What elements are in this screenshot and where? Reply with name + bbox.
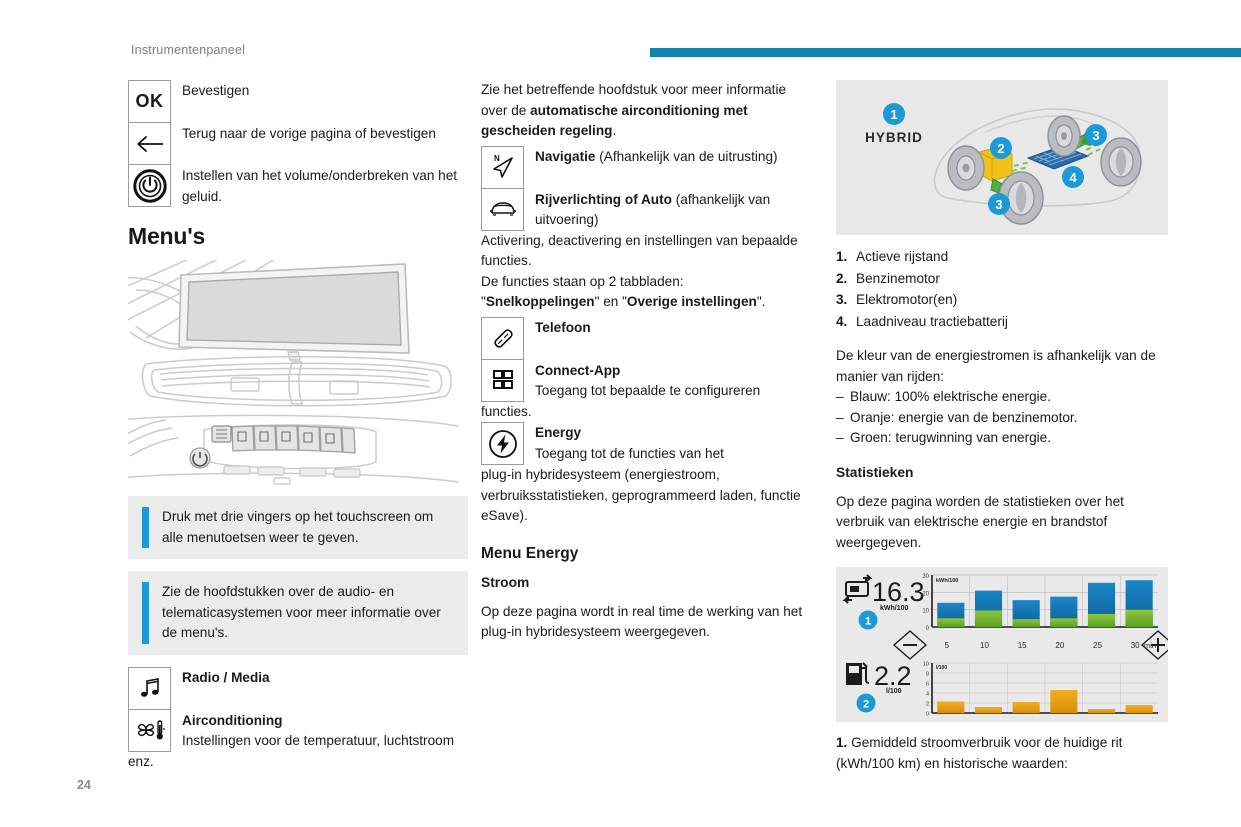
after-items-text-2: De functies staan op 2 tabbladen: (481, 272, 811, 293)
info-note-2: Zie de hoofdstukken over de audio- en te… (128, 571, 468, 655)
menu-row-telefoon-text: Telefoon (524, 317, 591, 360)
left-column: OK Bevestigen Terug naar de vorige pagin… (128, 80, 468, 772)
svg-text:10: 10 (923, 662, 929, 668)
dashboard-illustration (128, 260, 468, 488)
tab-name-2: Overige instellingen (627, 294, 757, 309)
control-row-back: Terug naar de vorige pagina of bevestige… (128, 123, 468, 165)
intro-paragraph: Zie het betreffende hoofdstuk voor meer … (481, 80, 811, 142)
statistics-screen-figure: 16.3 kWh/100 1 2.2 l/100 2 0102030kWh/10… (836, 567, 1168, 722)
menu-items-overflow: enz. (128, 752, 468, 773)
menu-body-connect-app: Toegang tot bepaalde te configureren (535, 383, 760, 398)
svg-text:6: 6 (926, 682, 929, 688)
menu-title-connect-app: Connect-App (535, 363, 620, 378)
svg-text:kWh/100: kWh/100 (936, 578, 958, 584)
energy-overflow: plug-in hybridesysteem (energiestroom, v… (481, 465, 811, 527)
statistieken-body: Op deze pagina worden de statistieken ov… (836, 492, 1168, 554)
list-item: –Blauw: 100% elektrische energie. (836, 387, 1168, 408)
svg-text:0: 0 (926, 712, 929, 718)
svg-text:10: 10 (922, 609, 929, 615)
page-number: 24 (77, 778, 91, 792)
info-icon (142, 507, 149, 548)
svg-text:1: 1 (865, 616, 871, 628)
menu-suffix-navigatie: (Afhankelijk van de uitrusting) (595, 149, 777, 164)
svg-text:2: 2 (863, 699, 869, 711)
menu-row-radio-media: Radio / Media (128, 667, 468, 710)
legend-label-4: Laadniveau tractiebatterij (856, 312, 1008, 333)
intro-text-2: . (612, 123, 616, 138)
air-conditioning-icon (128, 709, 171, 752)
middle-icon-list-a: N Navigatie (Afhankelijk van de uitrusti… (481, 146, 811, 231)
app-grid-icon (481, 359, 524, 402)
svg-text:1: 1 (890, 107, 897, 122)
menu-row-airconditioning: Airconditioning Instellingen voor de tem… (128, 710, 468, 752)
header-accent-rule (650, 48, 1241, 57)
svg-text:HYBRID: HYBRID (865, 130, 923, 145)
caption-text: Gemiddeld stroomverbruik voor de huidige… (836, 735, 1122, 771)
list-item: 1.Actieve rijstand (836, 247, 1168, 268)
car-front-lights-icon (481, 188, 524, 231)
tabs-joiner: " en " (595, 294, 627, 309)
list-item: 4.Laadniveau tractiebatterij (836, 312, 1168, 333)
power-volume-icon (128, 164, 171, 207)
energy-flow-intro: De kleur van de energiestromen is afhank… (836, 346, 1168, 387)
dash-marker: – (836, 428, 850, 449)
info-note-1-text: Druk met drie vingers op het touchscreen… (162, 507, 454, 548)
ok-button-icon: OK (128, 80, 171, 123)
menu-title-telefoon: Telefoon (535, 320, 591, 335)
control-text-power: Instellen van het volume/onderbreken van… (171, 165, 468, 207)
statistics-caption: 1. Gemiddeld stroomverbruik voor de huid… (836, 733, 1168, 774)
ok-label: OK (136, 91, 164, 112)
svg-text:30: 30 (1131, 641, 1140, 650)
svg-text:2: 2 (926, 702, 929, 708)
dash-marker: – (836, 387, 850, 408)
middle-column: Zie het betreffende hoofdstuk voor meer … (481, 80, 811, 657)
page-header-title: Instrumentenpaneel (131, 43, 245, 57)
menu-title-radio-media: Radio / Media (182, 670, 270, 685)
tab-name-1: Snelkoppelingen (486, 294, 595, 309)
stroom-heading: Stroom (481, 575, 811, 590)
menu-title-airconditioning: Airconditioning (182, 713, 282, 728)
control-row-power: Instellen van het volume/onderbreken van… (128, 165, 468, 207)
legend-number-3: 3. (836, 290, 856, 311)
menu-title-navigatie: Navigatie (535, 149, 595, 164)
legend-label-1: Actieve rijstand (856, 247, 948, 268)
energy-flow-list: –Blauw: 100% elektrische energie. –Oranj… (836, 387, 1168, 449)
svg-text:3: 3 (995, 197, 1002, 212)
menu-body-airconditioning: Instellingen voor de temperatuur, luchts… (182, 733, 454, 748)
svg-text:2.2: 2.2 (874, 661, 912, 691)
svg-text:25: 25 (1093, 641, 1102, 650)
after-items-text-1: Activering, deactivering en instellingen… (481, 231, 811, 272)
info-note-2-text: Zie de hoofdstukken over de audio- en te… (162, 582, 454, 644)
info-note-1: Druk met drie vingers op het touchscreen… (128, 496, 468, 559)
menu-row-navigatie: N Navigatie (Afhankelijk van de uitrusti… (481, 146, 811, 189)
control-text-ok: Bevestigen (171, 80, 249, 123)
list-item: 3.Elektromotor(en) (836, 290, 1168, 311)
dash-marker: – (836, 408, 850, 429)
svg-text:15: 15 (1018, 641, 1027, 650)
svg-text:5: 5 (945, 641, 950, 650)
phone-handset-icon (481, 317, 524, 360)
flow-item-2: Oranje: energie van de benzinemotor. (850, 408, 1077, 429)
list-item: 2.Benzinemotor (836, 269, 1168, 290)
control-text-back: Terug naar de vorige pagina of bevestige… (171, 123, 436, 165)
menu-row-rijverlichting-text: Rijverlichting of Auto (afhankelijk van … (524, 189, 811, 231)
svg-text:20: 20 (922, 591, 929, 597)
svg-text:16.3: 16.3 (872, 577, 925, 607)
svg-text:3: 3 (1092, 128, 1099, 143)
stroom-body: Op deze pagina wordt in real time de wer… (481, 602, 811, 643)
menu-energy-heading: Menu Energy (481, 545, 811, 563)
svg-text:2: 2 (997, 141, 1004, 156)
menu-row-telefoon: Telefoon (481, 317, 811, 360)
menu-icon-list: Radio / Media (128, 667, 468, 752)
flow-item-3: Groen: terugwinning van energie. (850, 428, 1051, 449)
list-item: –Oranje: energie van de benzinemotor. (836, 408, 1168, 429)
menu-title-rijverlichting: Rijverlichting of Auto (535, 192, 672, 207)
connect-app-overflow: functies. (481, 402, 811, 423)
menu-title-energy: Energy (535, 425, 581, 440)
menu-row-radio-media-text: Radio / Media (171, 667, 270, 710)
navigation-arrow-icon: N (481, 146, 524, 189)
svg-text:N: N (494, 154, 500, 163)
list-item: –Groen: terugwinning van energie. (836, 428, 1168, 449)
legend-label-3: Elektromotor(en) (856, 290, 957, 311)
menu-row-rijverlichting: Rijverlichting of Auto (afhankelijk van … (481, 189, 811, 231)
svg-text:kWh/100: kWh/100 (880, 605, 909, 612)
svg-text:4: 4 (1069, 170, 1077, 185)
hybrid-legend-list: 1.Actieve rijstand 2.Benzinemotor 3.Elek… (836, 247, 1168, 332)
back-arrow-icon (128, 122, 171, 165)
music-note-icon (128, 667, 171, 710)
flow-item-1: Blauw: 100% elektrische energie. (850, 387, 1051, 408)
info-icon (142, 582, 149, 644)
middle-icon-list-c: Energy Toegang tot de functies van het (481, 422, 811, 465)
legend-number-4: 4. (836, 312, 856, 333)
menu-row-navigatie-text: Navigatie (Afhankelijk van de uitrusting… (524, 146, 778, 189)
svg-text:l/100: l/100 (936, 665, 947, 671)
menu-row-energy-text: Energy Toegang tot de functies van het (524, 422, 724, 465)
statistieken-heading: Statistieken (836, 465, 1168, 480)
svg-text:10: 10 (980, 641, 989, 650)
control-row-ok: OK Bevestigen (128, 80, 468, 123)
fuel-pump-icon (846, 663, 869, 685)
hybrid-powertrain-figure: 1 HYBRID 2 3 4 3 (836, 80, 1168, 235)
middle-icon-list-b: Telefoon Connect-App (481, 317, 811, 402)
svg-text:20: 20 (1055, 641, 1064, 650)
legend-number-2: 2. (836, 269, 856, 290)
menu-body-energy: Toegang tot de functies van het (535, 446, 724, 461)
svg-text:30: 30 (922, 574, 929, 580)
tabs-quote-close: ". (757, 294, 766, 309)
caption-number: 1. (836, 735, 847, 750)
control-icon-list: OK Bevestigen Terug naar de vorige pagin… (128, 80, 468, 207)
manual-page: Instrumentenpaneel 24 OK Bevestigen Teru… (0, 0, 1241, 827)
menu-row-airconditioning-text: Airconditioning Instellingen voor de tem… (171, 710, 454, 752)
menu-row-energy: Energy Toegang tot de functies van het (481, 422, 811, 465)
svg-text:4: 4 (926, 692, 929, 698)
svg-text:8: 8 (926, 672, 929, 678)
menu-row-connect-app-text: Connect-App Toegang tot bepaalde te conf… (524, 360, 760, 402)
legend-number-1: 1. (836, 247, 856, 268)
legend-label-2: Benzinemotor (856, 269, 940, 290)
menu-row-connect-app: Connect-App Toegang tot bepaalde te conf… (481, 360, 811, 402)
tabs-line: "Snelkoppelingen" en "Overige instelling… (481, 292, 811, 313)
right-column: 1 HYBRID 2 3 4 3 1.Actieve rijstand 2.Be… (836, 80, 1168, 774)
energy-bolt-icon (481, 422, 524, 465)
menus-heading: Menu's (128, 223, 468, 250)
svg-text:l/100: l/100 (886, 688, 902, 695)
